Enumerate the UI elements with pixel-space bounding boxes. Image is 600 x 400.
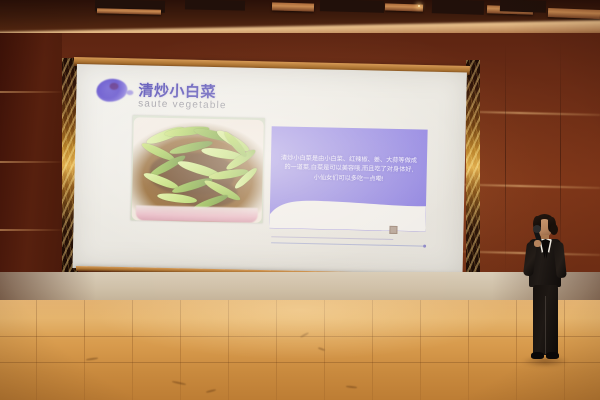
ceiling-fixture (432, 0, 484, 15)
slide-subtitle: saute vegetable (138, 98, 227, 111)
auditorium-scene: 清炒小白菜 saute vegetable (0, 0, 600, 400)
ceiling-lamp-icon (418, 5, 420, 7)
decor-strip-right (466, 60, 480, 275)
presenter-shoe-right (546, 352, 559, 359)
slide-body-text: 清炒小白菜是由小白菜、红辣椒、姜、大蒜等做成 的一道菜,白菜是可以美容哦,而且吃… (280, 153, 418, 185)
dish-photo (131, 115, 265, 223)
presenter (516, 214, 572, 366)
stage-floor (0, 300, 600, 400)
trouser-seam (545, 296, 546, 354)
slide-hairline (271, 242, 423, 246)
presenter-shadow (522, 356, 568, 367)
presenter-hand (534, 240, 541, 247)
ceiling-fixture (185, 0, 245, 11)
projection-screen: 清炒小白菜 saute vegetable (73, 64, 467, 276)
ceiling-light-slat (272, 2, 314, 11)
ceiling-fixture (320, 0, 384, 13)
slide-textbox: 清炒小白菜是由小白菜、红辣椒、姜、大蒜等做成 的一道菜,白菜是可以美容哦,而且吃… (269, 126, 427, 231)
wave-decoration (269, 194, 426, 232)
backdrop-shadow (0, 272, 600, 302)
microphone-head (533, 225, 541, 233)
presenter-shoe-left (531, 352, 544, 359)
left-wall-panel (0, 33, 62, 281)
blob-tail (126, 90, 133, 95)
presenter-hair-bun (550, 224, 558, 235)
ceiling-fixture (500, 0, 546, 13)
slide-hairline (271, 236, 393, 240)
wall-panel-line (505, 40, 506, 275)
hairline-end-dot (423, 245, 426, 248)
plate-rim (136, 206, 258, 223)
square-marker-icon (389, 226, 397, 234)
